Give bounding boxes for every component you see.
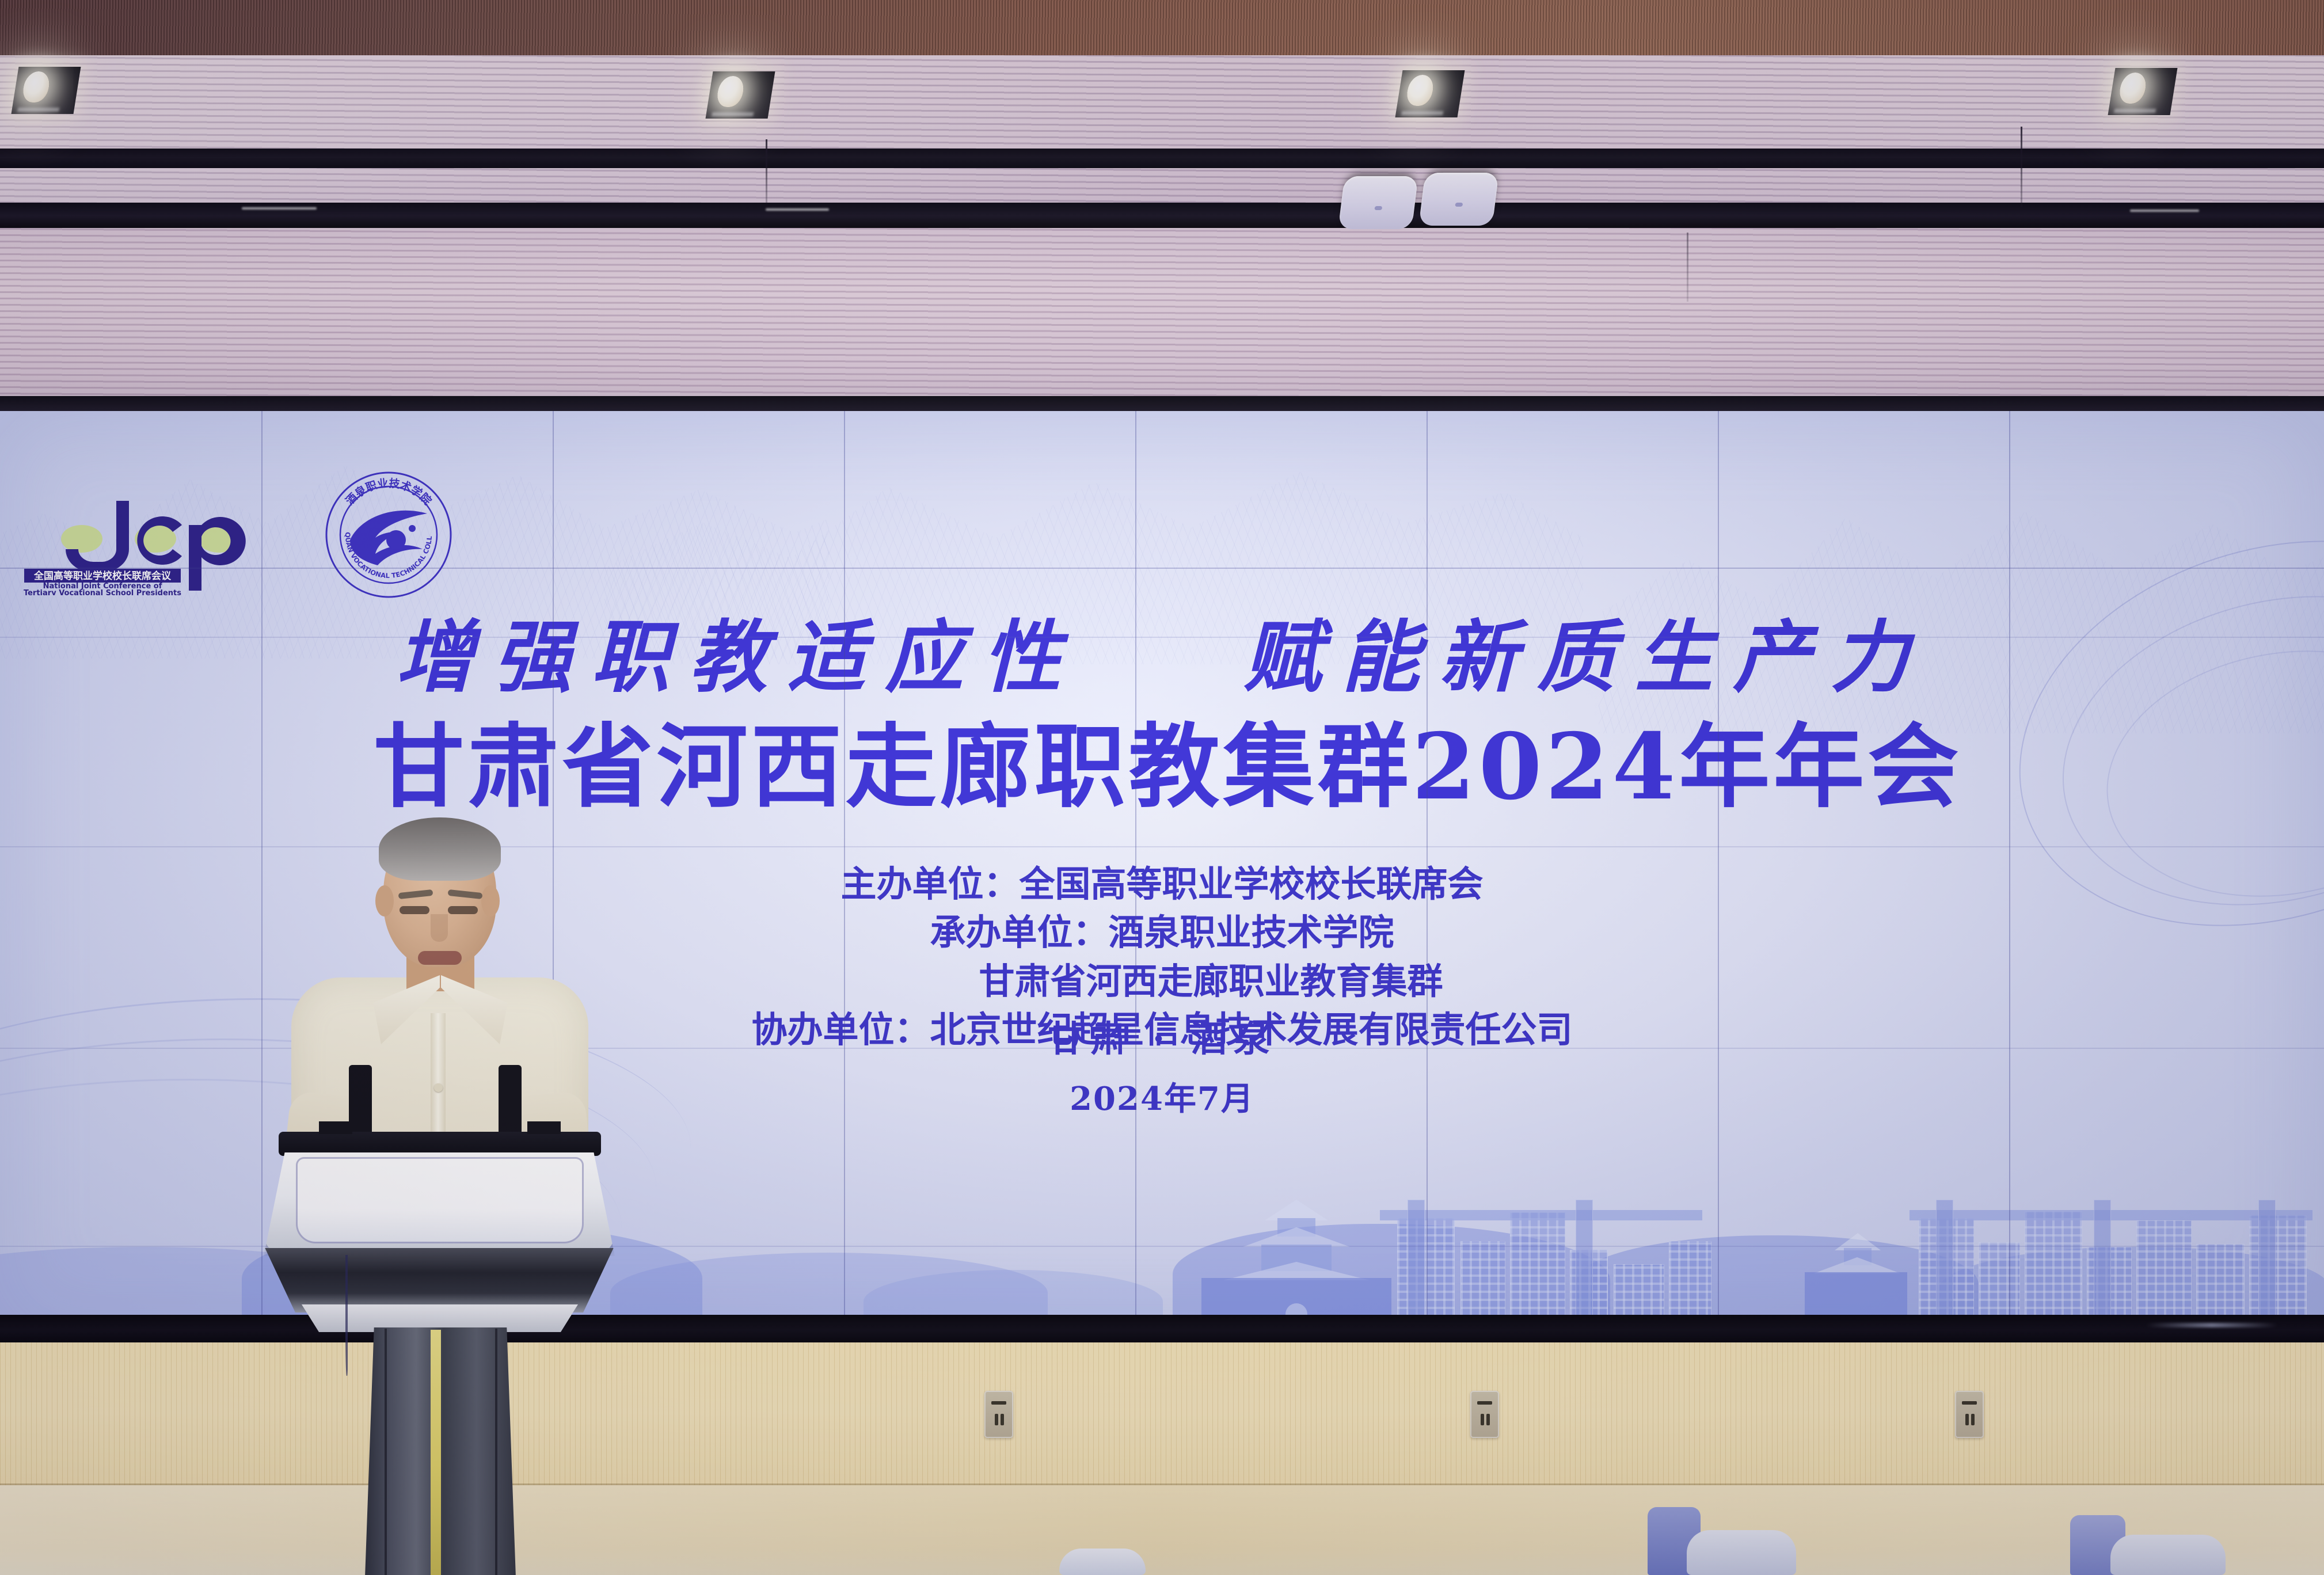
outlet-slot [1477, 1401, 1492, 1405]
smoke-detector-icon [1338, 176, 1418, 229]
ceiling-spotlight [2108, 68, 2178, 115]
ceiling-wire [2021, 127, 2022, 207]
wall-outlet[interactable] [1955, 1391, 1984, 1438]
outlet-slot [1481, 1414, 1484, 1425]
microphone-stand [499, 1065, 522, 1139]
speaker-eye [400, 906, 429, 914]
rail-pylon [2258, 1200, 2276, 1333]
pagoda-roof [1265, 1200, 1328, 1220]
microphone-mount-bar [279, 1132, 601, 1156]
microphone-stand [349, 1065, 372, 1139]
pagoda-roof [1243, 1227, 1350, 1247]
screen-panel-seam [1718, 411, 1719, 1333]
spotlight-bulb [716, 76, 746, 107]
ceiling-beam-upper [0, 149, 2324, 168]
detector-led [1374, 206, 1382, 210]
speaker-ear [481, 885, 500, 916]
detector-led [1455, 203, 1463, 207]
slogan-right: 赋能新质生产力 [1243, 611, 1929, 703]
rail-pylon [1576, 1200, 1593, 1333]
ceiling-spotlight [706, 71, 775, 119]
spotlight-bulb [21, 71, 52, 102]
outlet-slot [995, 1414, 998, 1425]
podium-accent-stripe [431, 1330, 441, 1575]
spotlight-rim [712, 112, 754, 116]
screen-panel-seam [1427, 411, 1428, 1333]
outlet-slot [991, 1401, 1006, 1405]
jcp-logo: 全国高等职业学校校长联席会议 National Joint Conference… [14, 480, 296, 595]
speaker-eye [448, 906, 478, 914]
beam-highlight [766, 208, 829, 211]
screen-panel-seam [844, 411, 845, 1333]
organizer-name: 全国高等职业学校校长联席会 [1020, 863, 1484, 905]
ceiling-spotlight [12, 67, 81, 114]
speaker-hair [379, 817, 501, 881]
pagoda-roof [1814, 1257, 1900, 1273]
spotlight-bulb [2118, 73, 2148, 104]
ceiling-wire [766, 139, 767, 203]
elevated-rail [1910, 1210, 2312, 1220]
wall-outlet[interactable] [1470, 1391, 1499, 1438]
outlet-slot [1965, 1414, 1969, 1425]
slogan-left: 增强职教适应性 [395, 611, 1081, 703]
audience-chair-seat [1059, 1549, 1146, 1575]
wall-outlet[interactable] [984, 1391, 1013, 1438]
organizer-name: 甘肃省河西走廊职业教育集群 [979, 960, 1443, 1002]
ceiling-beam-lower [0, 203, 2324, 229]
outlet-slot [1971, 1414, 1975, 1425]
ceiling-wire [1687, 233, 1688, 302]
elevated-rail [1380, 1210, 1702, 1220]
screen-top-bezel [0, 396, 2324, 411]
city-skyline-silhouette [1173, 1161, 2324, 1333]
speaker-ear [375, 885, 394, 916]
conference-hall-photo: 全国高等职业学校校长联席会议 National Joint Conference… [0, 0, 2324, 1575]
column-edge [385, 1329, 387, 1575]
jcp-logo-icon: 全国高等职业学校校长联席会议 National Joint Conference… [14, 480, 296, 595]
screen-panel-seam [2009, 411, 2010, 1333]
podium-reading-surface [296, 1157, 584, 1243]
floor-cable [343, 1572, 429, 1575]
bezel-highlight [2146, 1323, 2278, 1327]
podium-cable [345, 1255, 348, 1376]
column-edge [495, 1329, 497, 1575]
beam-highlight [2130, 210, 2199, 212]
ceiling-spotlight [1395, 70, 1465, 117]
outlet-slot [1001, 1414, 1004, 1425]
mount-notch [319, 1121, 352, 1134]
screen-panel-seam [0, 568, 2324, 569]
organizer-role: 主办单位： [840, 863, 1019, 905]
rail-pylon [2094, 1200, 2111, 1333]
spotlight-rim [2114, 109, 2156, 113]
ceiling-slat-panel-lower [0, 228, 2324, 401]
conference-title: 甘肃省河西走廊职教集群2024年年会 [6, 693, 2324, 825]
outlet-slot [1486, 1414, 1490, 1425]
speaker-nose [431, 914, 448, 942]
audience-chair-seat [1687, 1530, 1796, 1575]
podium-lectern [241, 1065, 638, 1575]
speaker-mouth [418, 951, 462, 965]
rail-pylon [1936, 1200, 1953, 1333]
ceiling-slat-panel-upper [0, 55, 2324, 210]
spotlight-rim [1401, 111, 1443, 115]
jiuquan-college-seal-icon: 酒泉职业技术学院 JIUQUAN VOCATIONAL TECHNICAL CO… [322, 469, 455, 601]
organizer-name: 酒泉职业技术学院 [1109, 911, 1394, 953]
slogan-line: 增强职教适应性 赋能新质生产力 [0, 594, 2324, 707]
organizer-role: 承办单位： [930, 911, 1108, 953]
pagoda-tower [1201, 1195, 1391, 1333]
screen-panel-seam [1135, 411, 1136, 1333]
smoke-detector-icon [1418, 173, 1498, 226]
mount-notch [527, 1121, 561, 1134]
spotlight-bulb [1405, 75, 1436, 106]
rail-pylon [1408, 1200, 1425, 1333]
beam-highlight [242, 207, 317, 210]
screen-panel-seam [0, 637, 2324, 638]
jcp-logo-chinese-name: 全国高等职业学校校长联席会议 [33, 570, 172, 582]
spotlight-rim [17, 108, 59, 112]
podium-front-band [250, 1248, 629, 1312]
outlet-slot [1962, 1401, 1977, 1405]
audience-chair-seat [2110, 1535, 2226, 1575]
